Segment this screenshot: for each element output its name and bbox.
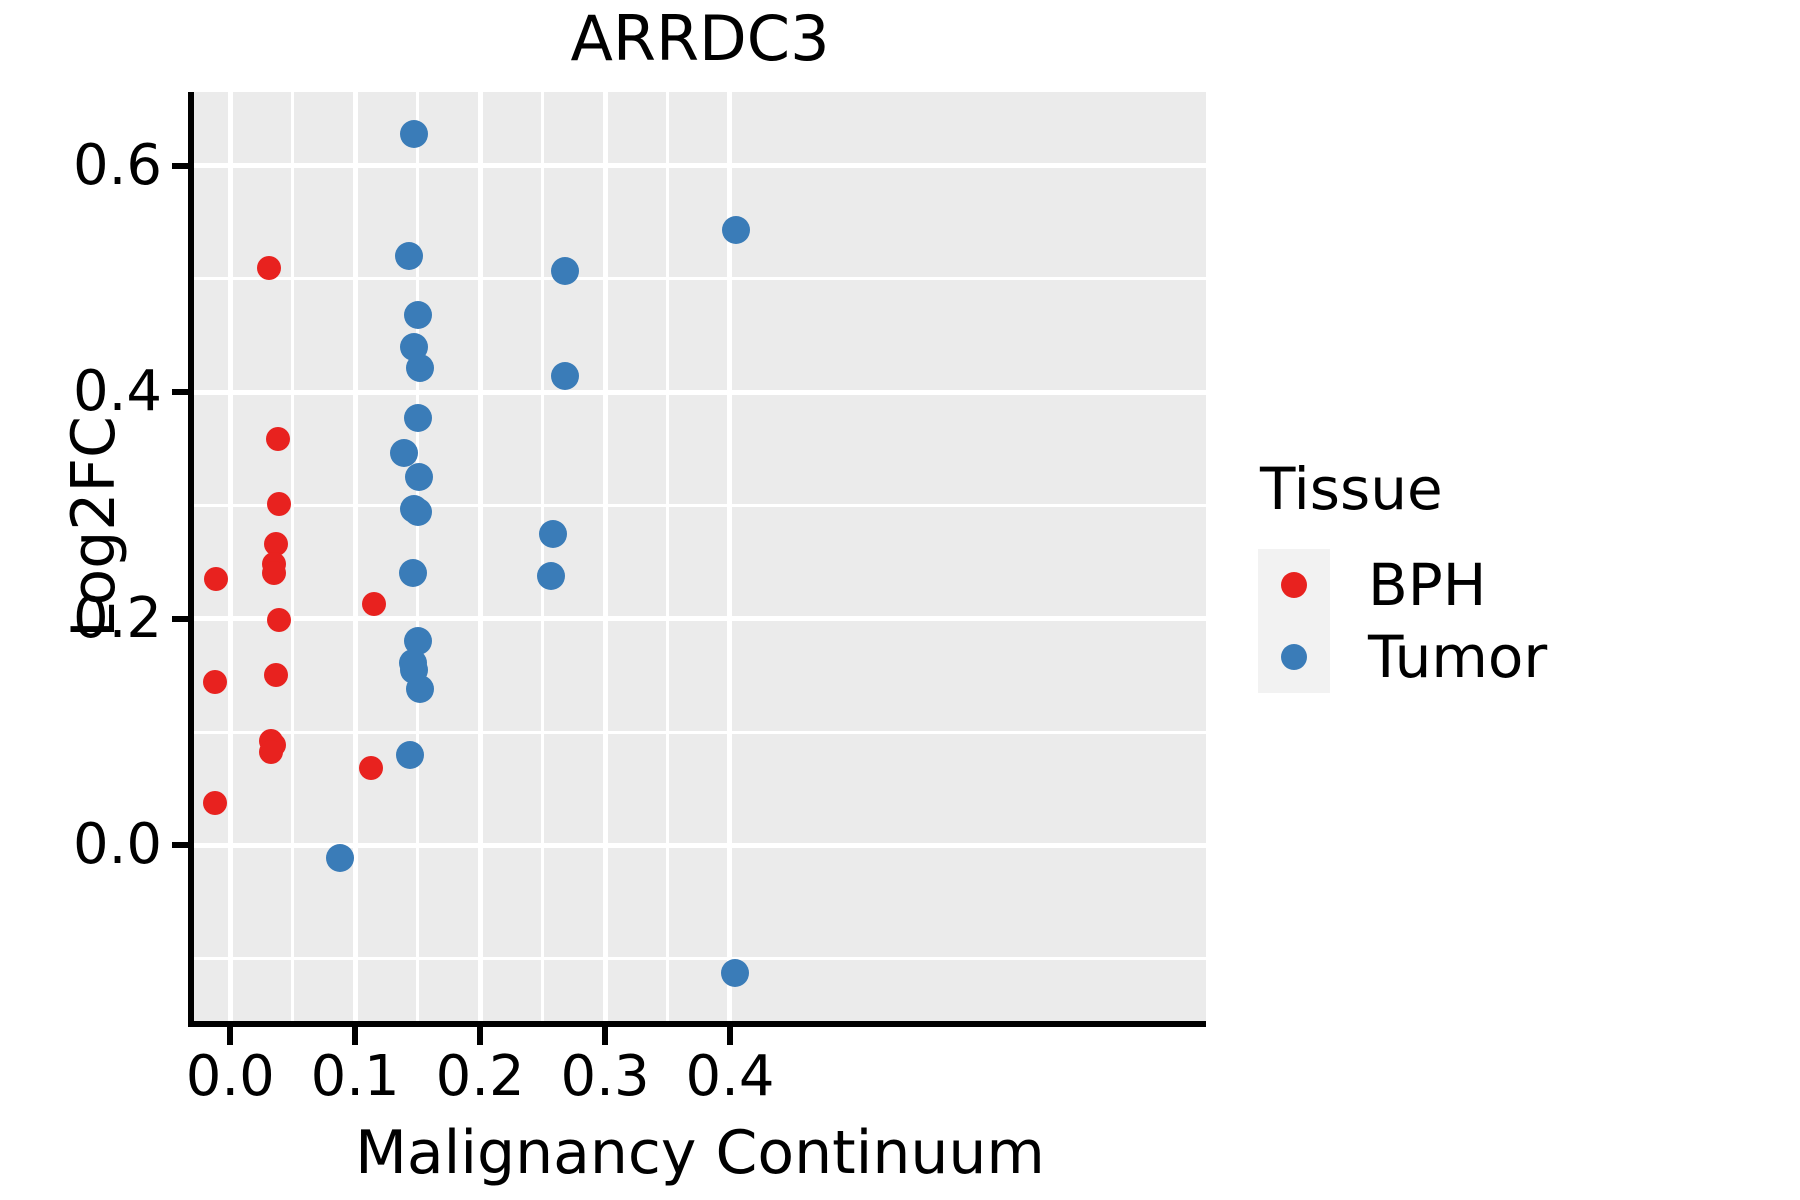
data-point-bph [257, 256, 281, 280]
data-point-bph [267, 608, 291, 632]
gridline-vertical-minor [416, 92, 419, 1021]
data-point-tumor [539, 520, 567, 548]
data-point-tumor [404, 498, 432, 526]
x-axis-tick [602, 1027, 608, 1045]
data-point-tumor [399, 559, 427, 587]
data-point-bph [203, 670, 227, 694]
gridline-vertical-major [228, 92, 233, 1021]
legend-item-label: Tumor [1368, 628, 1547, 686]
y-axis-tick [172, 616, 189, 622]
x-axis-tick [477, 1027, 483, 1045]
legend: Tissue BPHTumor [1258, 455, 1547, 693]
data-point-tumor [406, 675, 434, 703]
data-point-tumor [400, 120, 428, 148]
gridline-vertical-minor [666, 92, 669, 1021]
legend-dot-icon [1281, 644, 1307, 670]
legend-key-swatch [1258, 549, 1330, 621]
data-point-bph [259, 740, 283, 764]
x-axis-title: Malignancy Continuum [194, 1118, 1206, 1188]
y-axis-line [188, 92, 194, 1025]
plot-panel [194, 92, 1206, 1021]
gridline-vertical-major [478, 92, 483, 1021]
data-point-bph [266, 427, 290, 451]
gridline-vertical-major [603, 92, 608, 1021]
gridline-vertical-minor [541, 92, 544, 1021]
legend-dot-icon [1281, 572, 1307, 598]
y-axis-tick [172, 842, 189, 848]
legend-entries: BPHTumor [1258, 549, 1547, 693]
data-point-tumor [395, 242, 423, 270]
data-point-tumor [721, 959, 749, 987]
chart-root: ARRDC3 0.00.20.40.60.00.10.20.30.4 Malig… [0, 0, 1800, 1200]
gridline-vertical-major [353, 92, 358, 1021]
gridline-horizontal-minor [194, 731, 1206, 734]
x-axis-tick [727, 1027, 733, 1045]
legend-item-bph[interactable]: BPH [1258, 549, 1547, 621]
data-point-tumor [551, 362, 579, 390]
data-point-tumor [551, 257, 579, 285]
y-axis-tick [172, 163, 189, 169]
legend-title: Tissue [1260, 455, 1547, 523]
legend-item-label: BPH [1368, 556, 1486, 614]
gridline-horizontal-major [194, 163, 1206, 168]
data-point-tumor [406, 354, 434, 382]
data-point-tumor [405, 463, 433, 491]
y-axis-title: Log2FC [59, 227, 129, 827]
gridline-horizontal-minor [194, 277, 1206, 280]
data-point-bph [267, 492, 291, 516]
data-point-tumor [404, 404, 432, 432]
x-axis-tick [352, 1027, 358, 1045]
data-point-tumor [404, 301, 432, 329]
data-point-bph [264, 663, 288, 687]
x-axis-tick [227, 1027, 233, 1045]
legend-key-swatch [1258, 621, 1330, 693]
data-point-tumor [326, 844, 354, 872]
gridline-vertical-minor [291, 92, 294, 1021]
gridline-horizontal-major [194, 616, 1206, 621]
gridline-horizontal-minor [194, 957, 1206, 960]
data-point-tumor [537, 562, 565, 590]
data-point-bph [362, 592, 386, 616]
y-axis-tick [172, 389, 189, 395]
x-axis-tick-label: 0.4 [630, 1049, 830, 1105]
data-point-tumor [396, 741, 424, 769]
gridline-horizontal-minor [194, 504, 1206, 507]
data-point-bph [359, 756, 383, 780]
y-axis-tick-label: 0.6 [0, 138, 162, 194]
page-title: ARRDC3 [0, 8, 1400, 70]
data-point-bph [262, 561, 286, 585]
data-point-bph [203, 791, 227, 815]
gridline-horizontal-major [194, 390, 1206, 395]
data-point-tumor [722, 216, 750, 244]
x-axis-line [188, 1021, 1206, 1027]
legend-item-tumor[interactable]: Tumor [1258, 621, 1547, 693]
data-point-bph [204, 567, 228, 591]
